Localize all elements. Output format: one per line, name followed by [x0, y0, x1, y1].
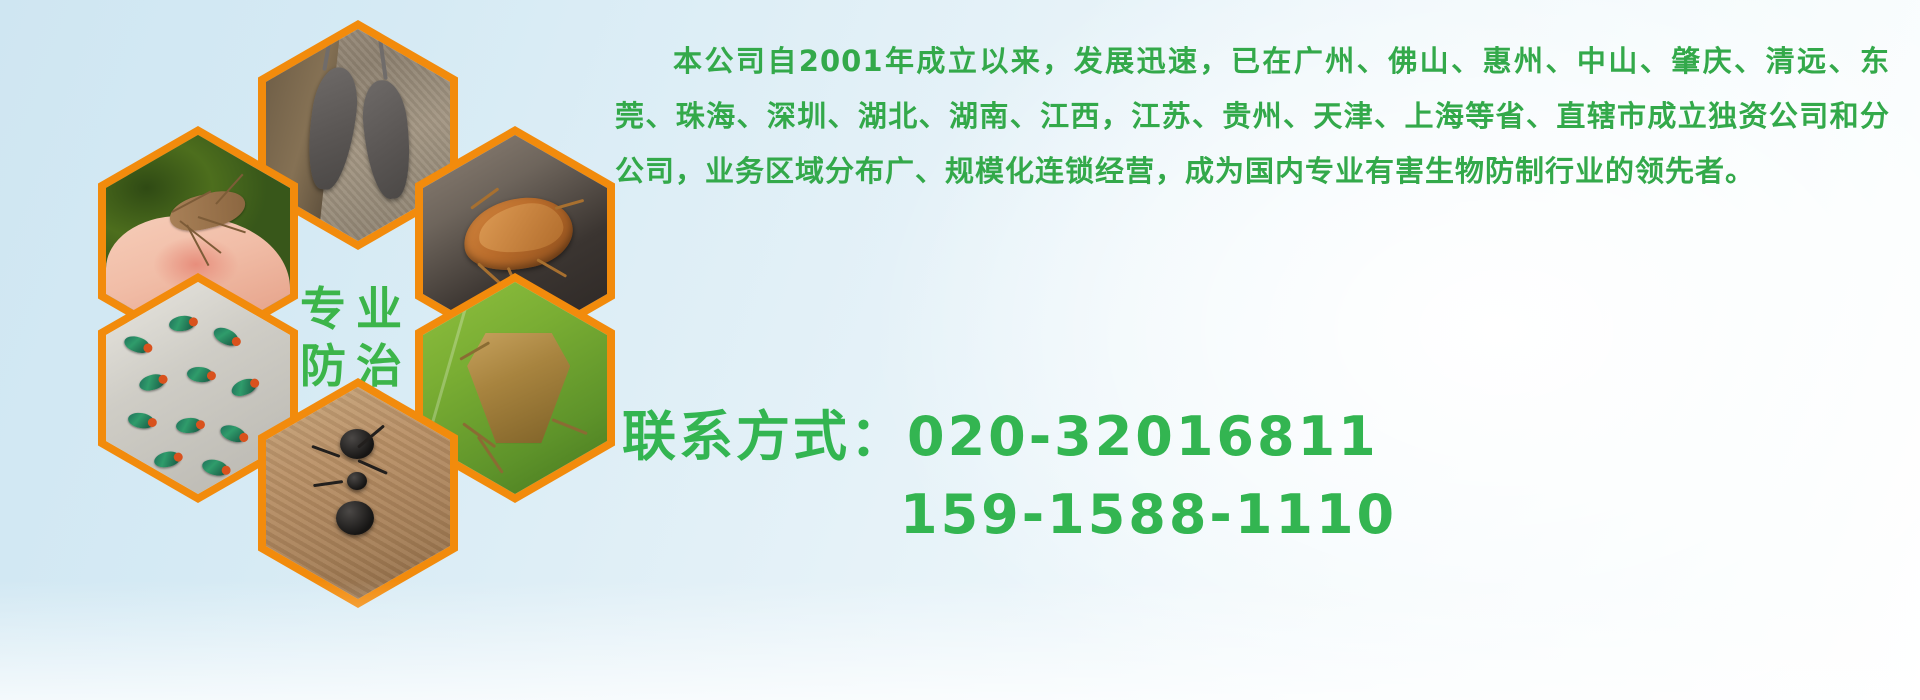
company-description-paragraph: 本公司自2001年成立以来，发展迅速，已在广州、佛山、惠州、中山、肇庆、清远、东… [615, 34, 1890, 199]
center-label-line1: 专业 [290, 281, 412, 339]
honeycomb-photo-cluster: 专业 防治 [70, 8, 590, 568]
contact-block: 联系方式：020-32016811 159-1588-1110 [622, 398, 1902, 554]
ant-photo [266, 387, 450, 599]
company-description-block: 本公司自2001年成立以来，发展迅速，已在广州、佛山、惠州、中山、肇庆、清远、东… [615, 34, 1890, 199]
contact-line-mobile[interactable]: 159-1588-1110 [622, 476, 1902, 554]
contact-line-primary[interactable]: 联系方式：020-32016811 [622, 398, 1902, 476]
pest-control-banner: 专业 防治 [0, 0, 1920, 700]
